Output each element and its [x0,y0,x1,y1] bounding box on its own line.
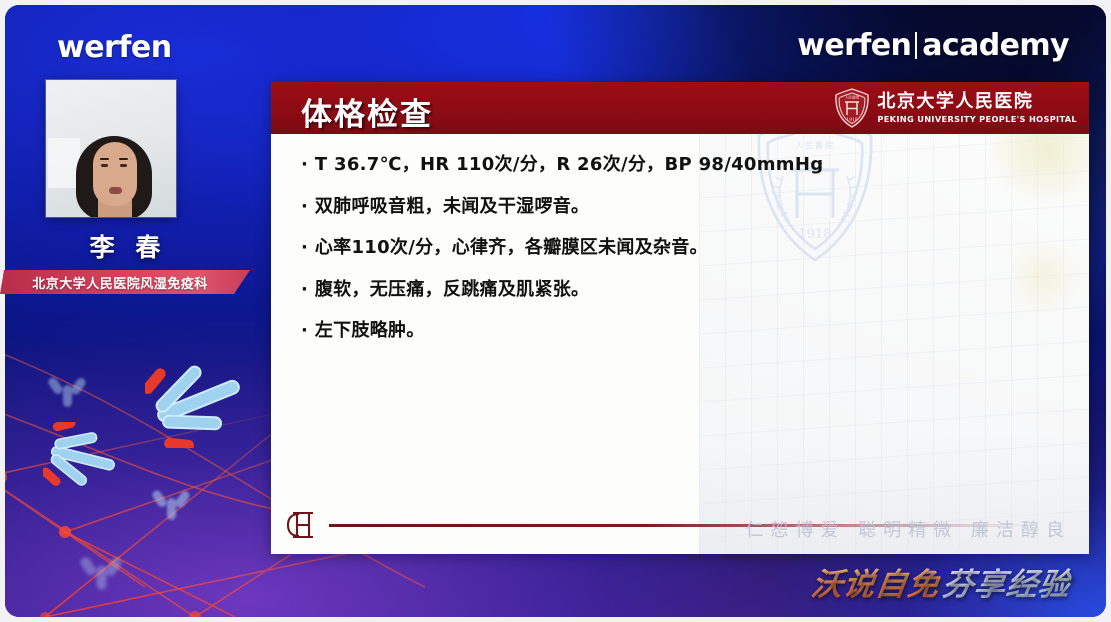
antibody-icon-small-2 [151,484,191,522]
bullet-marker: · [301,320,308,343]
photo-foliage-2 [999,232,1089,322]
werfen-academy-logo: werfen academy [797,28,1069,63]
antibody-icon-small-1 [47,371,87,409]
bullet-item: · 双肺呼吸音粗，未闻及干湿啰音。 [301,196,1001,219]
bullet-item: · 腹软，无压痛，反跳痛及肌紧张。 [301,279,1001,302]
program-title-banner: 沃说自免 芬享经验 [809,559,1074,604]
hospital-shield-icon: 1918 人民醫院 [834,88,870,128]
hospital-name-en: PEKING UNIVERSITY PEOPLE'S HOSPITAL [877,115,1077,123]
presenter-mouth [109,187,122,194]
presenter-face [93,142,137,206]
speaker-name-plate: 李 春 北京大学人民医院风湿免疫科 [0,228,250,294]
presentation-slide[interactable]: 1918 人民醫院 体格检查 1918 人民醫院 北 [271,82,1089,554]
bullet-marker: · [301,237,308,260]
antibody-icon-small-3 [79,550,123,592]
hospital-logo-text: 北京大学人民医院 PEKING UNIVERSITY PEOPLE'S HOSP… [877,93,1077,123]
academy-logo-werfen: werfen [797,28,911,63]
presenter-eye-right [120,164,127,167]
bullet-text: 左下肢略肿。 [315,320,425,343]
academy-logo-divider [915,32,917,59]
hospital-logo: 1918 人民醫院 北京大学人民医院 PEKING UNIVERSITY PEO… [834,88,1077,128]
bullet-item: · 心率110次/分，心律齐，各瓣膜区未闻及杂音。 [301,237,1001,260]
antibody-icon-medium [43,422,121,494]
bullet-text: 双肺呼吸音粗，未闻及干湿啰音。 [315,196,590,219]
speaker-affiliation-banner: 北京大学人民医院风湿免疫科 [0,270,250,294]
screenshot-stage: werfen werfen academy 李 春 北京大学人民医院风湿免疫科 [0,0,1111,622]
slide-bullet-list: · T 36.7℃，HR 110次/分，R 26次/分，BP 98/40mmHg… [301,154,1001,362]
hospital-name-cn: 北京大学人民医院 [877,93,1077,111]
werfen-logo: werfen [57,30,172,65]
speaker-name: 李 春 [0,228,250,264]
antibody-icon-large [145,353,250,448]
hospital-motto: 仁恕博爱 聪明精微 廉洁醇良 [746,516,1071,542]
academy-logo-academy: academy [922,28,1069,63]
presenter-brow-left [100,158,109,160]
bullet-text: 心率110次/分，心律齐，各瓣膜区未闻及杂音。 [315,237,708,260]
speaker-affiliation: 北京大学人民医院风湿免疫科 [32,273,218,292]
presenter-eye-left [101,164,108,167]
bullet-item: · 左下肢略肿。 [301,320,1001,343]
banner-text-secondary: 芬享经验 [940,559,1074,604]
svg-text:人民醫院: 人民醫院 [795,140,835,150]
bullet-marker: · [301,279,308,302]
bullet-marker: · [301,154,308,177]
slide-title: 体格检查 [301,89,433,134]
svg-text:人民醫院: 人民醫院 [845,95,860,100]
presenter-brow-right [119,158,128,160]
hospital-monogram-icon [285,510,319,540]
bullet-marker: · [301,196,308,219]
bullet-item: · T 36.7℃，HR 110次/分，R 26次/分，BP 98/40mmHg [301,154,1001,177]
svg-text:1918: 1918 [847,118,858,123]
slide-title-bar: 体格检查 1918 人民醫院 北京大学人民医院 PEKING UNIVERSIT… [271,82,1089,134]
presenter-video-thumbnail[interactable] [46,80,176,217]
bullet-text: T 36.7℃，HR 110次/分，R 26次/分，BP 98/40mmHg [315,154,824,177]
banner-text-primary: 沃说自免 [809,559,943,604]
bullet-text: 腹软，无压痛，反跳痛及肌紧张。 [315,279,590,302]
